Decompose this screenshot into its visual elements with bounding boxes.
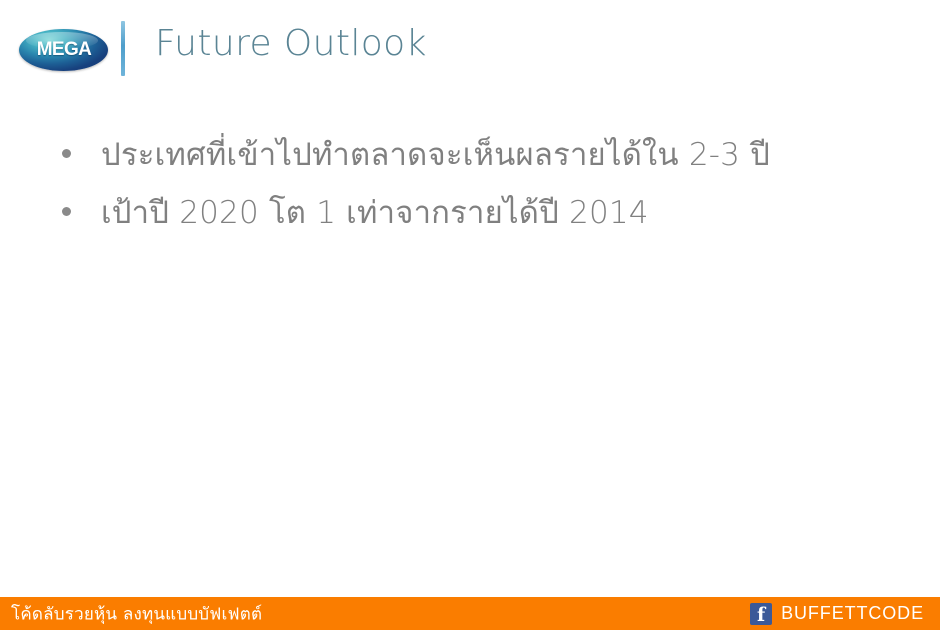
list-item: ประเทศที่เข้าไปทำตลาดจะเห็นผลรายได้ใน 2-…	[0, 130, 940, 180]
list-item-label: เป้าปี 2020 โต 1 เท่าจากรายได้ปี 2014	[101, 188, 649, 238]
footer-tagline: โค้ดลับรวยหุ้น ลงทุนแบบบัฟเฟตต์	[11, 600, 262, 627]
list-item-label: ประเทศที่เข้าไปทำตลาดจะเห็นผลรายได้ใน 2-…	[101, 130, 770, 180]
slide-header: MEGA Future Outlook	[0, 0, 940, 100]
page-title: Future Outlook	[155, 23, 427, 64]
list-item: เป้าปี 2020 โต 1 เท่าจากรายได้ปี 2014	[0, 188, 940, 238]
facebook-icon-glyph: f	[750, 603, 772, 625]
bullet-list: ประเทศที่เข้าไปทำตลาดจะเห็นผลรายได้ใน 2-…	[0, 130, 940, 246]
facebook-icon[interactable]: f	[750, 603, 772, 625]
slide-footer: โค้ดลับรวยหุ้น ลงทุนแบบบัฟเฟตต์ f BUFFET…	[0, 597, 940, 630]
bullet-dot-icon	[62, 207, 71, 216]
slide-canvas: MEGA Future Outlook ประเทศที่เข้าไปทำตลา…	[0, 0, 940, 630]
header-divider-bar	[121, 21, 125, 76]
footer-brand-group[interactable]: f BUFFETTCODE	[750, 603, 924, 625]
bullet-dot-icon	[62, 149, 71, 158]
logo-wordmark: MEGA	[19, 29, 108, 71]
mega-logo: MEGA	[19, 29, 108, 71]
facebook-page-label[interactable]: BUFFETTCODE	[781, 603, 924, 624]
